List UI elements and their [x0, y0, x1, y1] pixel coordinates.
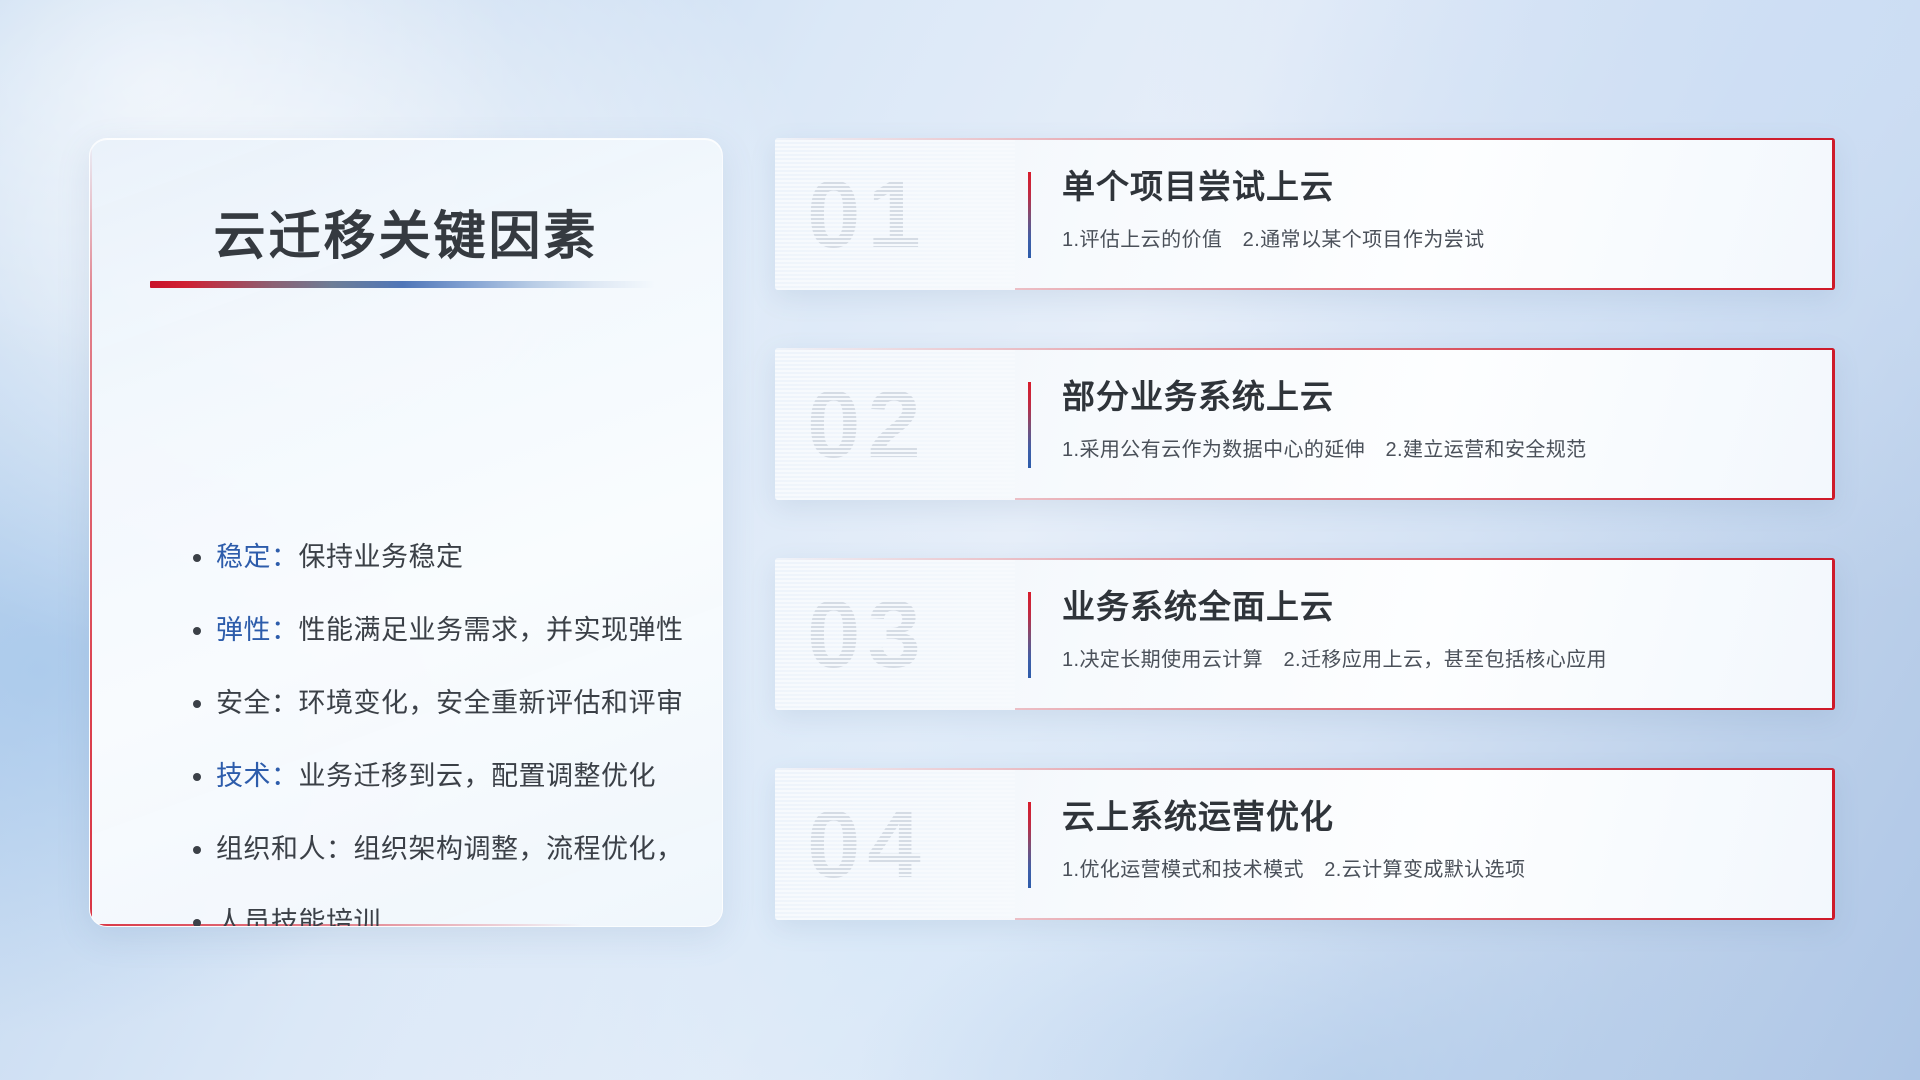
card-number-watermark: 01	[775, 138, 1015, 290]
stage-card[interactable]: 03业务系统全面上云1.决定长期使用云计算 2.迁移应用上云，甚至包括核心应用	[775, 558, 1835, 710]
card-edge-right	[1832, 138, 1835, 290]
factor-value: 保持业务稳定	[299, 542, 464, 572]
card-description: 1.决定长期使用云计算 2.迁移应用上云，甚至包括核心应用	[1062, 643, 1809, 672]
card-text-block: 单个项目尝试上云1.评估上云的价值 2.通常以某个项目作为尝试	[1062, 164, 1809, 252]
factor-value: 性能满足业务需求，并实现弹性	[299, 615, 684, 645]
factor-label: 弹性：	[216, 615, 299, 645]
card-number-watermark: 04	[775, 768, 1015, 920]
factor-label: 组织和人：	[216, 834, 354, 864]
card-edge-right	[1832, 768, 1835, 920]
factor-label: 技术：	[216, 761, 299, 791]
factor-label: 安全：	[216, 688, 299, 718]
card-title: 单个项目尝试上云	[1062, 164, 1809, 210]
factor-item: 稳定：保持业务稳定	[216, 521, 682, 594]
factor-item: 组织和人：组织架构调整，流程优化，	[216, 813, 682, 886]
card-divider-bar	[1028, 172, 1031, 258]
card-title: 云上系统运营优化	[1062, 794, 1809, 840]
factor-value: 人员技能培训	[216, 907, 381, 927]
factor-item: 弹性：性能满足业务需求，并实现弹性	[216, 594, 682, 667]
card-number: 02	[807, 354, 997, 496]
stage-card[interactable]: 01单个项目尝试上云1.评估上云的价值 2.通常以某个项目作为尝试	[775, 138, 1835, 290]
card-title: 部分业务系统上云	[1062, 374, 1809, 420]
card-edge-right	[1832, 348, 1835, 500]
factor-item: 技术：业务迁移到云，配置调整优化	[216, 740, 682, 813]
card-number: 04	[807, 774, 997, 916]
migration-stage-cards: 01单个项目尝试上云1.评估上云的价值 2.通常以某个项目作为尝试02部分业务系…	[775, 138, 1835, 920]
title-underline-rule	[150, 281, 655, 288]
slide-canvas: 云迁移关键因素 稳定：保持业务稳定弹性：性能满足业务需求，并实现弹性安全：环境变…	[0, 0, 1920, 1080]
card-edge-right	[1832, 558, 1835, 710]
card-divider-bar	[1028, 802, 1031, 888]
stage-card[interactable]: 04云上系统运营优化1.优化运营模式和技术模式 2.云计算变成默认选项	[775, 768, 1835, 920]
card-description: 1.评估上云的价值 2.通常以某个项目作为尝试	[1062, 223, 1809, 252]
stage-card[interactable]: 02部分业务系统上云1.采用公有云作为数据中心的延伸 2.建立运营和安全规范	[775, 348, 1835, 500]
factor-item: 安全：环境变化，安全重新评估和评审	[216, 667, 682, 740]
card-divider-bar	[1028, 382, 1031, 468]
key-factors-panel: 云迁移关键因素 稳定：保持业务稳定弹性：性能满足业务需求，并实现弹性安全：环境变…	[89, 138, 723, 927]
card-number: 01	[807, 144, 997, 286]
page-title: 云迁移关键因素	[90, 194, 722, 269]
card-text-block: 云上系统运营优化1.优化运营模式和技术模式 2.云计算变成默认选项	[1062, 794, 1809, 882]
card-text-block: 业务系统全面上云1.决定长期使用云计算 2.迁移应用上云，甚至包括核心应用	[1062, 584, 1809, 672]
card-number: 03	[807, 564, 997, 706]
factor-list: 稳定：保持业务稳定弹性：性能满足业务需求，并实现弹性安全：环境变化，安全重新评估…	[216, 521, 682, 927]
card-description: 1.采用公有云作为数据中心的延伸 2.建立运营和安全规范	[1062, 433, 1809, 462]
card-text-block: 部分业务系统上云1.采用公有云作为数据中心的延伸 2.建立运营和安全规范	[1062, 374, 1809, 462]
factor-item: 人员技能培训	[216, 886, 682, 927]
factor-value: 业务迁移到云，配置调整优化	[299, 761, 657, 791]
card-description: 1.优化运营模式和技术模式 2.云计算变成默认选项	[1062, 853, 1809, 882]
card-divider-bar	[1028, 592, 1031, 678]
card-title: 业务系统全面上云	[1062, 584, 1809, 630]
factor-value: 组织架构调整，流程优化，	[354, 834, 684, 864]
card-number-watermark: 02	[775, 348, 1015, 500]
factor-value: 环境变化，安全重新评估和评审	[299, 688, 684, 718]
card-number-watermark: 03	[775, 558, 1015, 710]
factor-label: 稳定：	[216, 542, 299, 572]
